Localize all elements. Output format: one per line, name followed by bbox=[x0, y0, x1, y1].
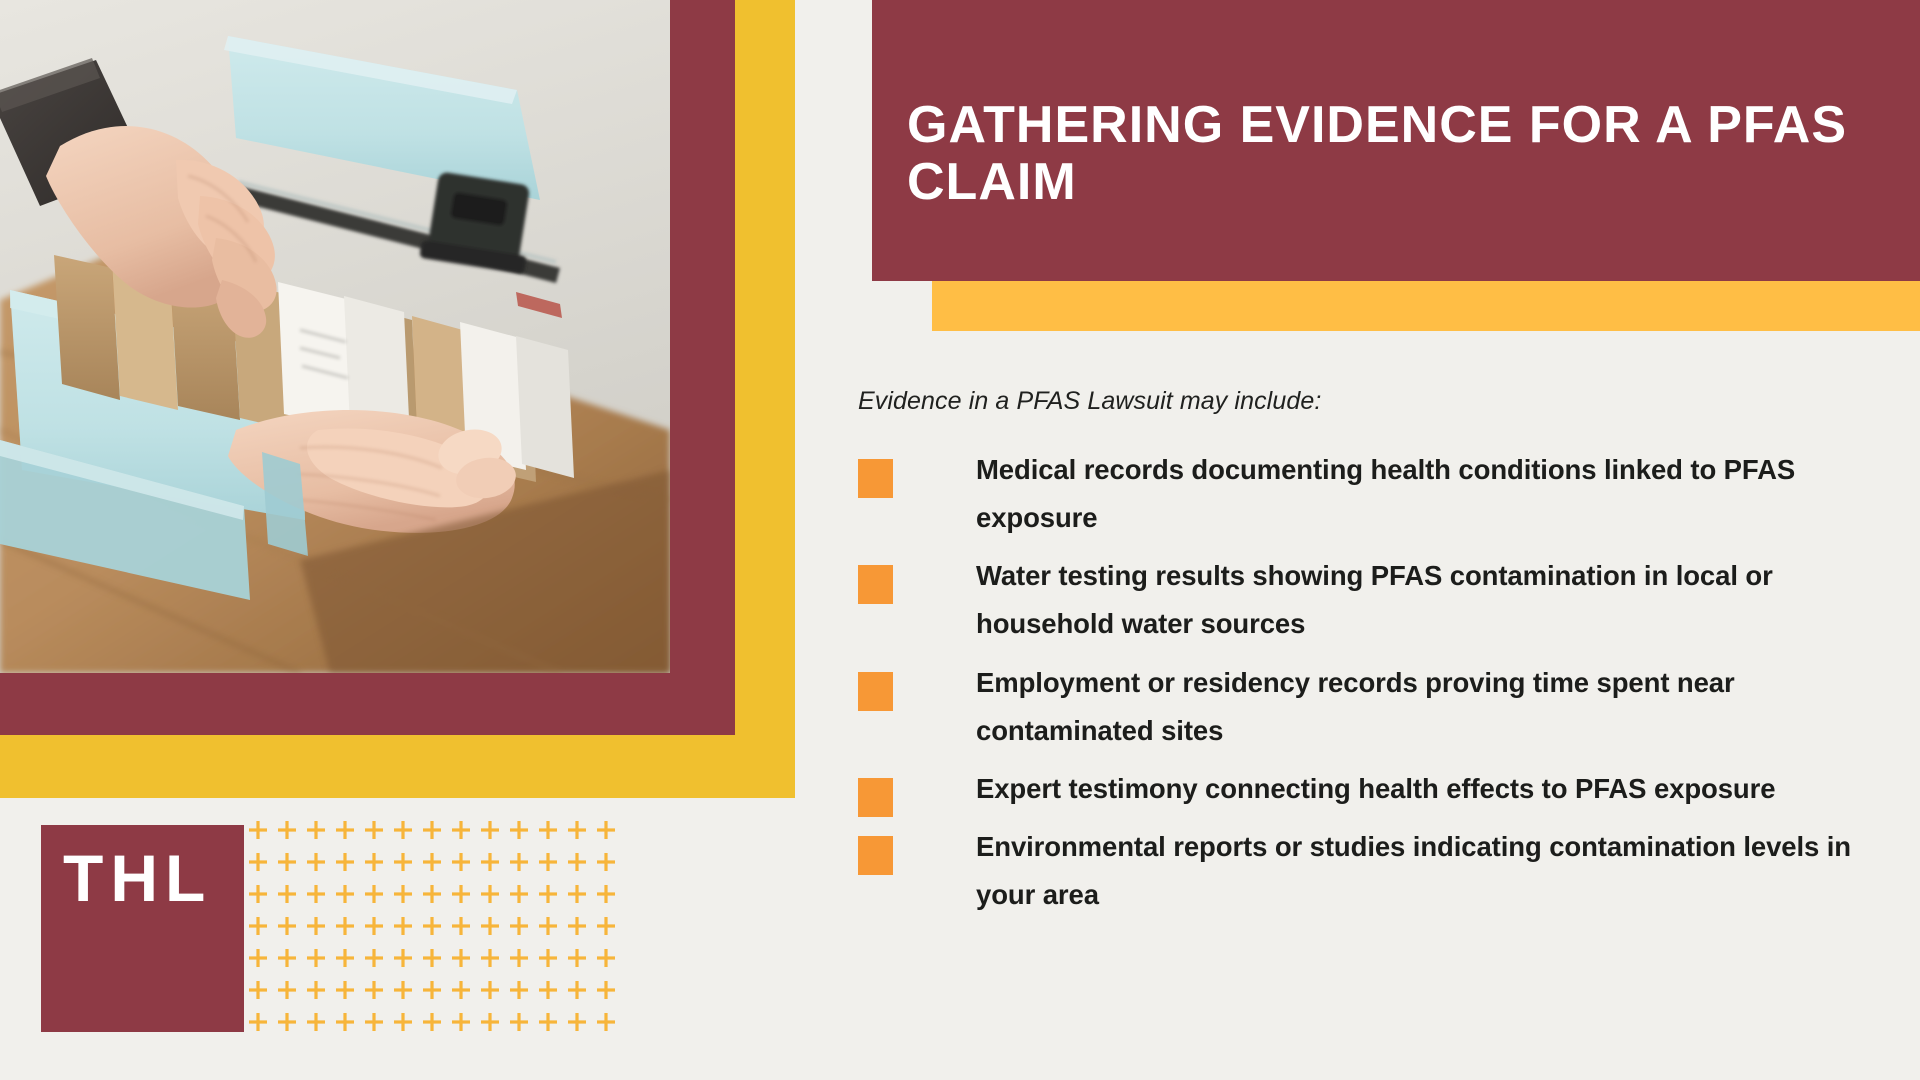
file-folder-photo bbox=[0, 0, 670, 673]
logo-wordmark: THL bbox=[63, 845, 212, 911]
list-item: Employment or residency records proving … bbox=[858, 659, 1893, 755]
evidence-content: Evidence in a PFAS Lawsuit may include: … bbox=[858, 387, 1893, 929]
photo-border-maroon-horizontal bbox=[0, 673, 735, 735]
title-accent-bar bbox=[932, 281, 1920, 331]
square-bullet-icon bbox=[858, 778, 893, 817]
plus-grid-pattern bbox=[247, 818, 637, 1053]
infographic-canvas: THL GATHERING EVIDENCE FOR A PFAS CLAIM … bbox=[0, 0, 1920, 1080]
list-item-label: Expert testimony connecting health effec… bbox=[976, 765, 1893, 813]
thl-logo: THL bbox=[41, 825, 244, 1032]
list-item-label: Employment or residency records proving … bbox=[976, 659, 1893, 755]
list-item: Medical records documenting health condi… bbox=[858, 446, 1893, 542]
square-bullet-icon bbox=[858, 459, 893, 498]
photo-frame bbox=[0, 0, 670, 673]
list-item: Water testing results showing PFAS conta… bbox=[858, 552, 1893, 648]
list-item-label: Environmental reports or studies indicat… bbox=[976, 823, 1893, 919]
page-title: GATHERING EVIDENCE FOR A PFAS CLAIM bbox=[907, 97, 1896, 210]
square-bullet-icon bbox=[858, 836, 893, 875]
list-item: Expert testimony connecting health effec… bbox=[858, 765, 1893, 813]
list-item-label: Water testing results showing PFAS conta… bbox=[976, 552, 1893, 648]
photo-border-yellow-horizontal bbox=[0, 735, 795, 798]
title-banner: GATHERING EVIDENCE FOR A PFAS CLAIM bbox=[872, 0, 1920, 281]
square-bullet-icon bbox=[858, 672, 893, 711]
evidence-list: Medical records documenting health condi… bbox=[858, 446, 1893, 919]
list-item-label: Medical records documenting health condi… bbox=[976, 446, 1893, 542]
square-bullet-icon bbox=[858, 565, 893, 604]
list-item: Environmental reports or studies indicat… bbox=[858, 823, 1893, 919]
photo-border-yellow-vertical bbox=[735, 0, 795, 798]
intro-text: Evidence in a PFAS Lawsuit may include: bbox=[858, 387, 1893, 416]
photo-border-maroon-vertical bbox=[670, 0, 735, 735]
